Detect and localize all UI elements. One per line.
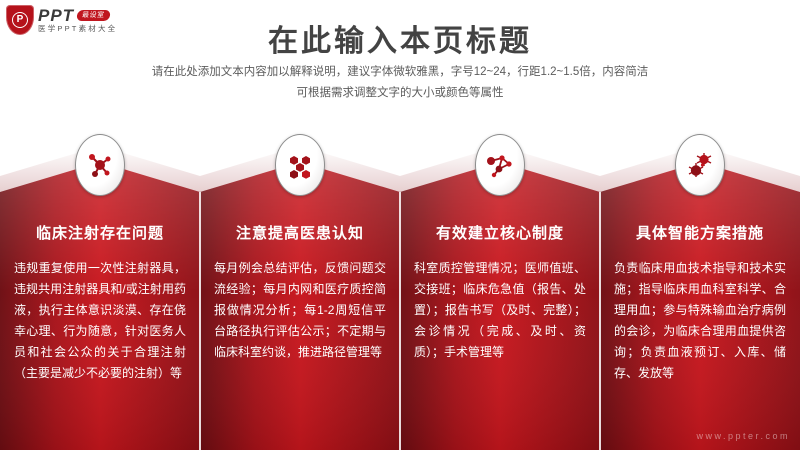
panel-2-heading: 注意提高医患认知 xyxy=(200,222,400,243)
virus-cells-icon xyxy=(675,134,725,196)
subtitle-line-2: 可根据需求调整文字的大小或颜色等属性 xyxy=(0,83,800,104)
page-title: 在此输入本页标题 xyxy=(0,16,800,60)
panel-4-heading: 具体智能方案措施 xyxy=(600,222,800,243)
panel-1-heading: 临床注射存在问题 xyxy=(0,222,200,243)
watermark: www.ppter.com xyxy=(696,431,790,441)
page-subtitle: 请在此处添加文本内容加以解释说明，建议字体微软雅黑，字号12~24，行距1.2~… xyxy=(0,62,800,104)
panel-3[interactable]: 有效建立核心制度 科室质控管理情况；医师值班、交接班；临床危急值（报告、处置）；… xyxy=(400,118,600,450)
panel-2-body: 每月例会总结评估，反馈问题交流经验；每月内网和医疗质控简报做情况分析；每1-2周… xyxy=(214,258,386,363)
subtitle-line-1: 请在此处添加文本内容加以解释说明，建议字体微软雅黑，字号12~24，行距1.2~… xyxy=(0,62,800,83)
panel-3-body: 科室质控管理情况；医师值班、交接班；临床危急值（报告、处置）；报告书写（及时、完… xyxy=(414,258,586,363)
network-nodes-icon xyxy=(475,134,525,196)
ribbon-diagram: 临床注射存在问题 违规重复使用一次性注射器具，违规共用注射器具和/或注射用药液，… xyxy=(0,118,800,450)
panel-2[interactable]: 注意提高医患认知 每月例会总结评估，反馈问题交流经验；每月内网和医疗质控简报做情… xyxy=(200,118,400,450)
panel-1-body: 违规重复使用一次性注射器具，违规共用注射器具和/或注射用药液，执行主体意识淡漠、… xyxy=(14,258,186,384)
hex-cells-icon xyxy=(275,134,325,196)
panel-4[interactable]: 具体智能方案措施 负责临床用血技术指导和技术实施；指导临床用血科室科学、合理用血… xyxy=(600,118,800,450)
panel-4-body: 负责临床用血技术指导和技术实施；指导临床用血科室科学、合理用血；参与特殊输血治疗… xyxy=(614,258,786,384)
molecule-icon xyxy=(75,134,125,196)
panel-3-heading: 有效建立核心制度 xyxy=(400,222,600,243)
panel-1[interactable]: 临床注射存在问题 违规重复使用一次性注射器具，违规共用注射器具和/或注射用药液，… xyxy=(0,118,200,450)
